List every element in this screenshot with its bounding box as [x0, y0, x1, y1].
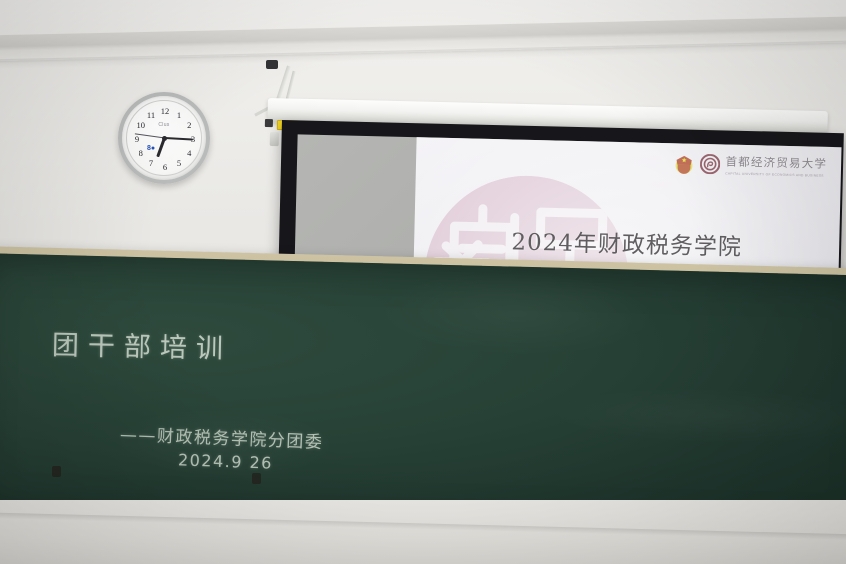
clock-minute-hand: [164, 137, 193, 141]
clock-logo-mark: 8●: [147, 145, 155, 152]
slide-logo-bar: 首都经济贸易大学 CAPITAL UNIVERSITY OF ECONOMICS…: [673, 151, 827, 178]
chalkboard: [0, 253, 846, 538]
communist-youth-league-emblem: [673, 152, 696, 175]
clock-numeral-4: 4: [183, 148, 195, 158]
slide-university-name: 首都经济贸易大学 CAPITAL UNIVERSITY OF ECONOMICS…: [725, 152, 827, 177]
university-seal-mark: [700, 153, 720, 173]
slide-title-line1: 2024年财政税务学院: [511, 229, 742, 260]
clock-numeral-11: 11: [145, 110, 157, 120]
clock-numeral-2: 2: [183, 120, 195, 130]
clock-face: Clus 8● 123456789101112: [126, 100, 202, 176]
clock-brand-label: Clus: [158, 122, 169, 128]
clock-center-pin: [162, 136, 167, 141]
clock-numeral-5: 5: [173, 158, 185, 168]
screen-control-button[interactable]: [265, 119, 273, 127]
screen-mount-foot: [270, 132, 279, 146]
clock-numeral-7: 7: [145, 158, 157, 168]
clock-numeral-9: 9: [131, 134, 143, 144]
clock-numeral-1: 1: [173, 110, 185, 120]
clock-numeral-10: 10: [135, 120, 147, 130]
clock-numeral-6: 6: [159, 162, 171, 172]
ceiling-bracket-anchor: [266, 60, 278, 69]
ledge-object-mid: [252, 473, 261, 484]
ledge-object-left: [52, 466, 61, 477]
chalk-date-text: 2024.9 26: [178, 450, 274, 472]
clock-numeral-12: 12: [159, 106, 171, 116]
wall-clock: Clus 8● 123456789101112: [118, 92, 210, 184]
classroom-scene: Clus 8● 123456789101112: [0, 0, 846, 564]
chalk-title-text: 团干部培训: [52, 323, 233, 366]
clock-numeral-8: 8: [135, 148, 147, 158]
slide-university-name-en: CAPITAL UNIVERSITY OF ECONOMICS AND BUSI…: [725, 171, 827, 177]
chalk-smudges: [0, 253, 846, 538]
